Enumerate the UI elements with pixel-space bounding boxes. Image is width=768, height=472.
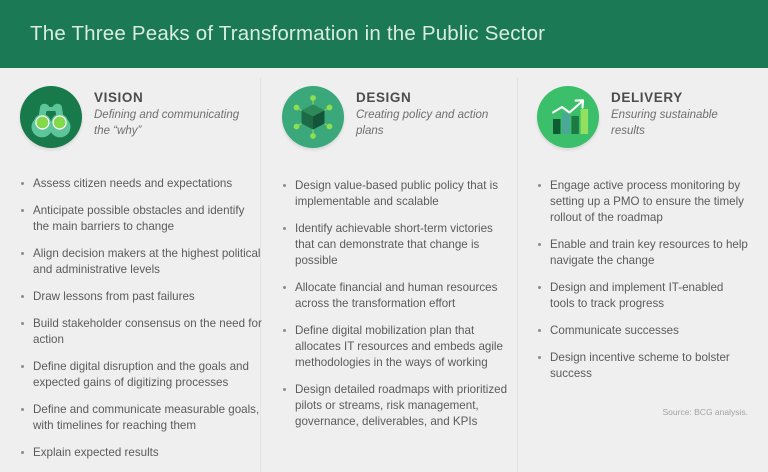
column-subtitle-delivery: Ensuring sustainable results — [611, 108, 748, 139]
list-item: Explain expected results — [20, 445, 262, 461]
bullet-list-delivery: Engage active process monitoring by sett… — [537, 178, 748, 382]
column-header-design: DESIGN Creating policy and action plans — [282, 86, 515, 152]
list-item: Design value-based public policy that is… — [282, 178, 515, 210]
column-vision: VISION Defining and communicating the “w… — [12, 86, 270, 472]
bullet-list-vision: Assess citizen needs and expectations An… — [20, 176, 262, 461]
binoculars-icon — [20, 86, 82, 148]
list-item: Allocate financial and human resources a… — [282, 280, 515, 312]
column-subtitle-design: Creating policy and action plans — [356, 108, 506, 139]
column-title-block-design: DESIGN Creating policy and action plans — [356, 86, 506, 139]
column-title-delivery: DELIVERY — [611, 90, 748, 106]
bullet-list-design: Design value-based public policy that is… — [282, 178, 515, 430]
bar-chart-growth-icon — [537, 86, 599, 148]
list-item: Draw lessons from past failures — [20, 289, 262, 305]
list-item: Design and implement IT-enabled tools to… — [537, 280, 748, 312]
column-header-vision: VISION Defining and communicating the “w… — [20, 86, 262, 152]
list-item: Enable and train key resources to help n… — [537, 237, 748, 269]
column-title-block-vision: VISION Defining and communicating the “w… — [94, 86, 244, 139]
network-cube-icon — [282, 86, 344, 148]
list-item: Design detailed roadmaps with prioritize… — [282, 382, 515, 430]
column-header-delivery: DELIVERY Ensuring sustainable results — [537, 86, 748, 152]
list-item: Design incentive scheme to bolster succe… — [537, 350, 748, 382]
slide-root: The Three Peaks of Transformation in the… — [0, 0, 768, 434]
column-title-vision: VISION — [94, 90, 244, 106]
list-item: Align decision makers at the highest pol… — [20, 246, 262, 278]
slide-header: The Three Peaks of Transformation in the… — [0, 0, 768, 68]
list-item: Build stakeholder consensus on the need … — [20, 316, 262, 348]
list-item: Define digital mobilization plan that al… — [282, 323, 515, 371]
list-item: Engage active process monitoring by sett… — [537, 178, 748, 226]
columns-container: VISION Defining and communicating the “w… — [0, 68, 768, 472]
column-subtitle-vision: Defining and communicating the “why” — [94, 108, 244, 139]
list-item: Define and communicate measurable goals,… — [20, 402, 262, 434]
column-design: DESIGN Creating policy and action plans … — [270, 86, 525, 472]
list-item: Anticipate possible obstacles and identi… — [20, 203, 262, 235]
source-note: Source: BCG analysis. — [662, 407, 748, 417]
list-item: Assess citizen needs and expectations — [20, 176, 262, 192]
list-item: Communicate successes — [537, 323, 748, 339]
list-item: Define digital disruption and the goals … — [20, 359, 262, 391]
list-item: Identify achievable short-term victories… — [282, 221, 515, 269]
page-title: The Three Peaks of Transformation in the… — [30, 22, 545, 46]
column-title-block-delivery: DELIVERY Ensuring sustainable results — [611, 86, 748, 139]
column-title-design: DESIGN — [356, 90, 506, 106]
